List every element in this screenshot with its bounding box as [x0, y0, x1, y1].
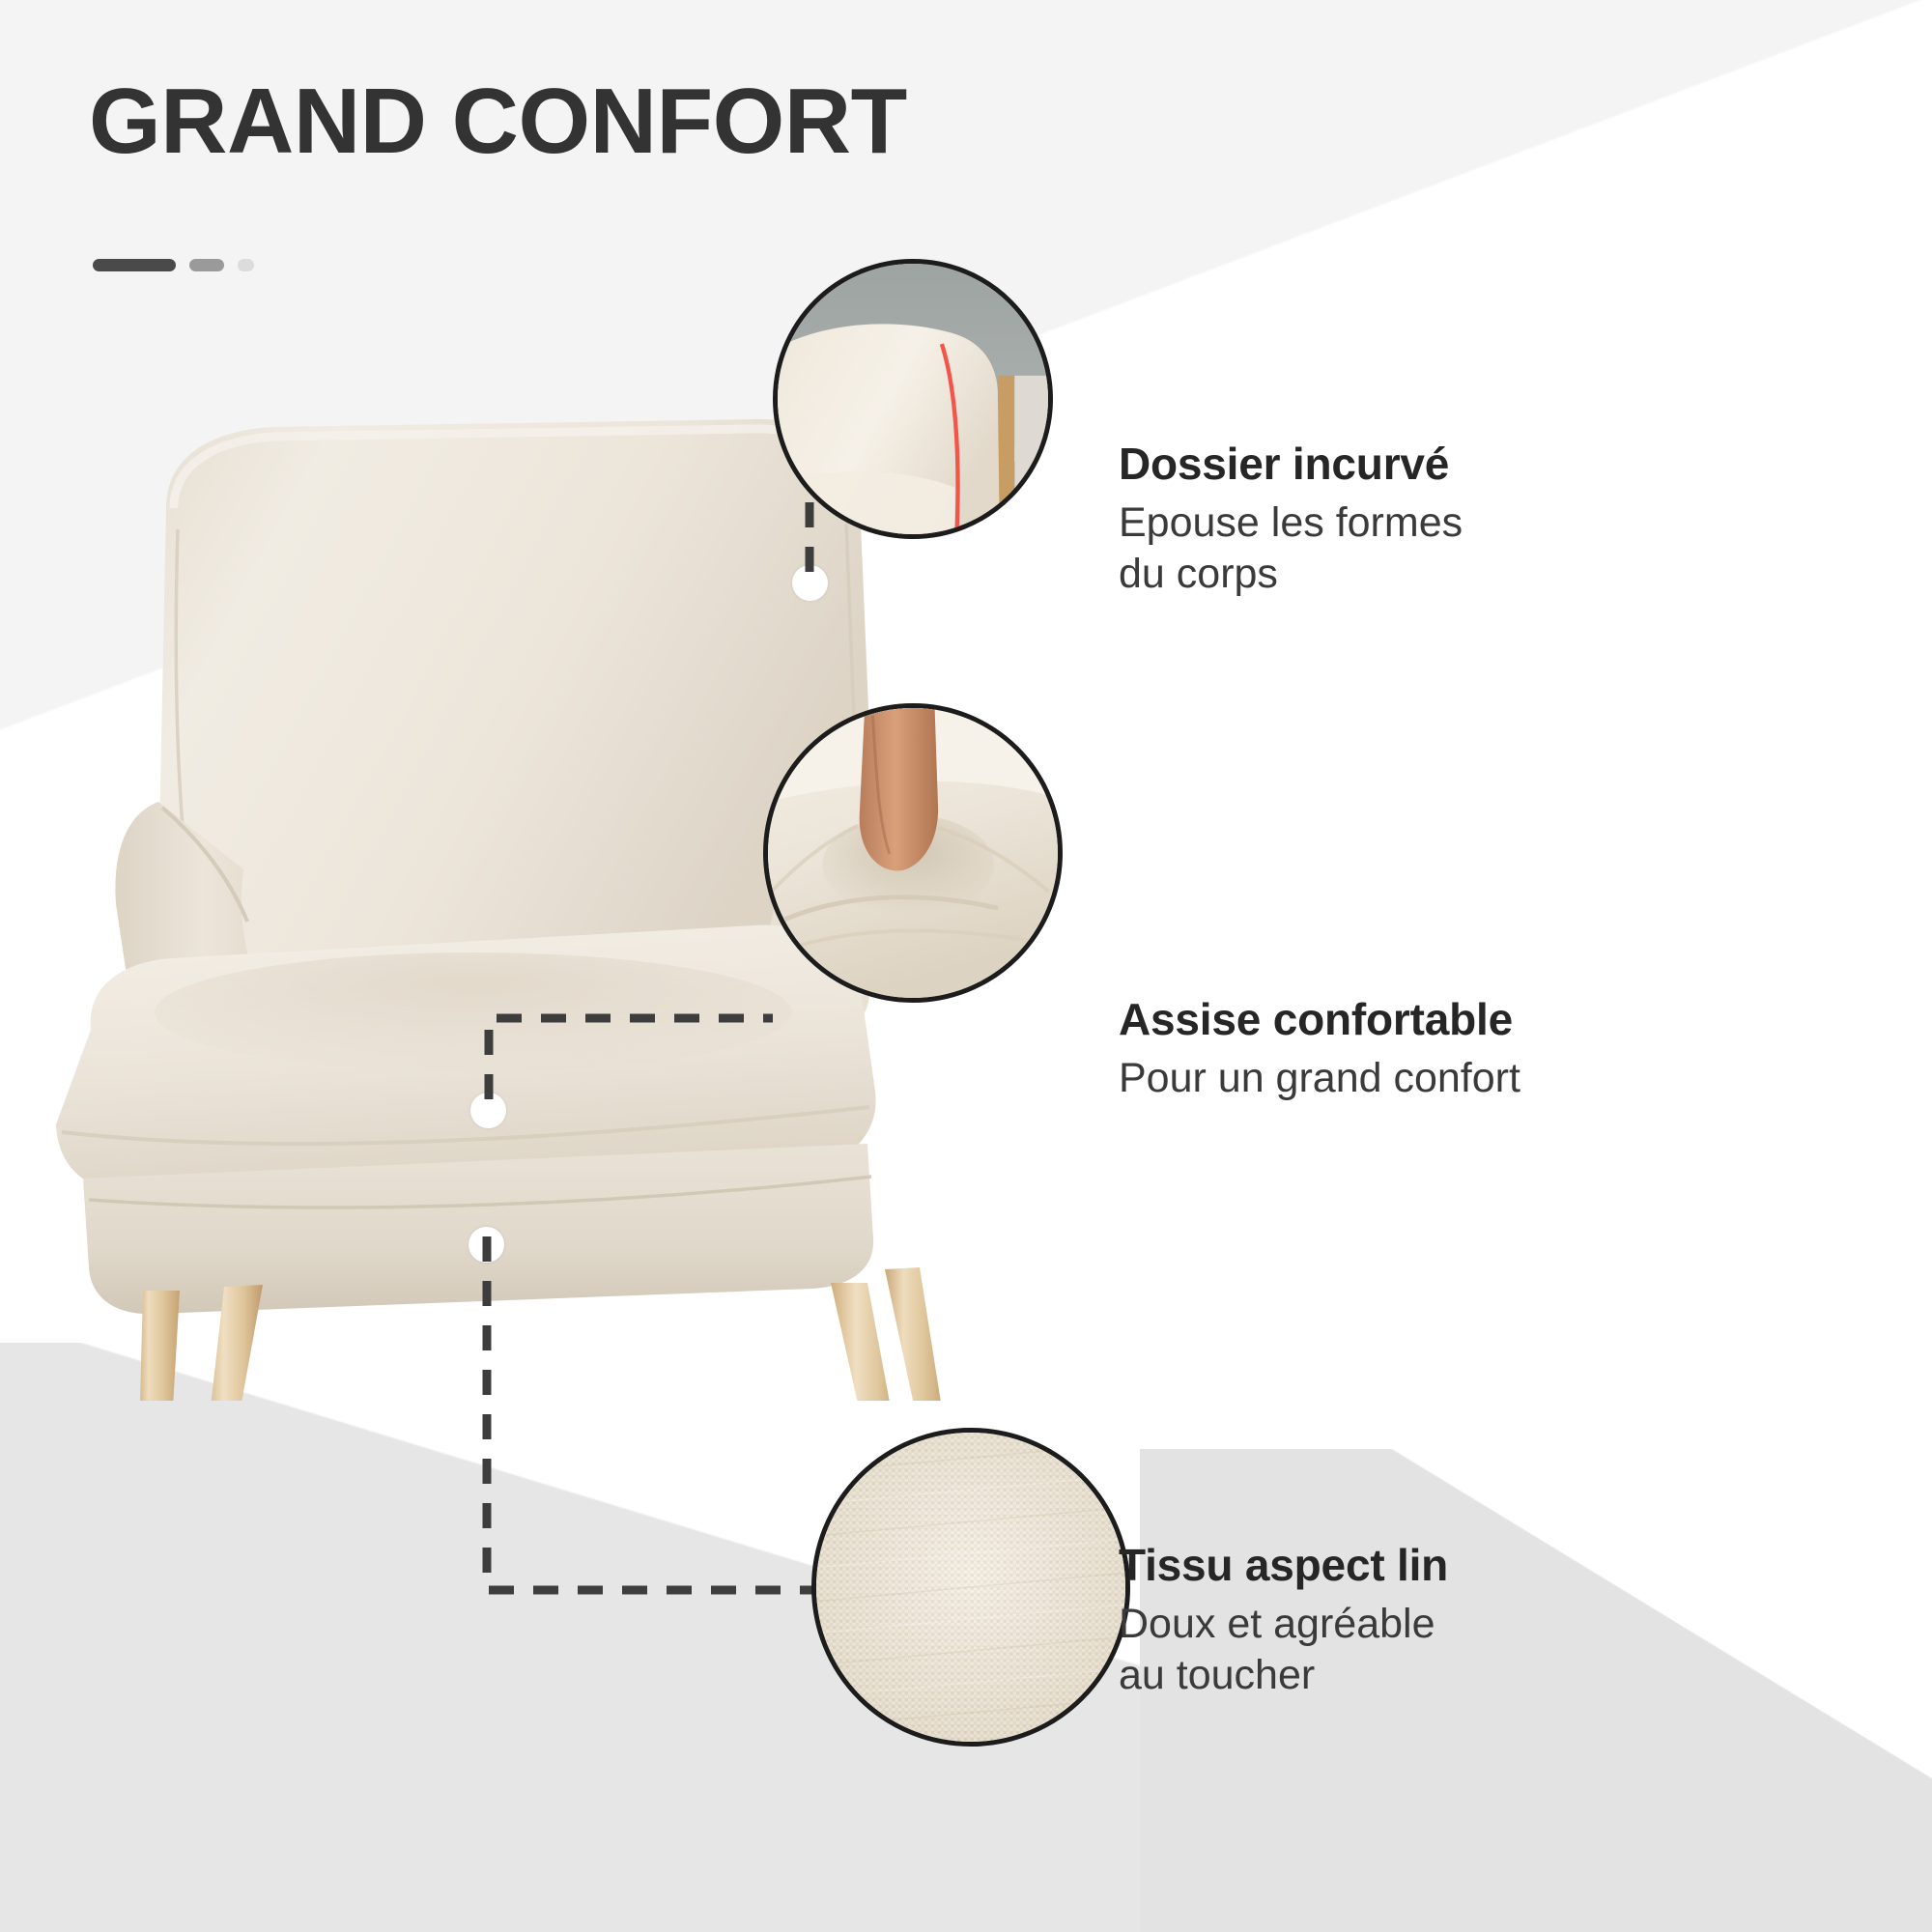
accent-dash-long [93, 259, 176, 271]
accent-dash-short [238, 259, 254, 271]
page-title: GRAND CONFORT [89, 75, 907, 168]
feature-title-tissu: Tissu aspect lin [1119, 1541, 1448, 1591]
feature-desc-tissu-line1: Doux et agréable [1119, 1599, 1448, 1650]
inset-seat-cushion-press [763, 703, 1063, 1003]
feature-title-dossier: Dossier incurvé [1119, 440, 1463, 490]
feature-block-assise: Assise confortable Pour un grand confort [1119, 995, 1520, 1104]
feature-block-tissu: Tissu aspect lin Doux et agréable au tou… [1119, 1541, 1448, 1701]
feature-desc-dossier-line2: du corps [1119, 549, 1463, 600]
chair-leg-back-right [885, 1267, 947, 1401]
feature-block-dossier: Dossier incurvé Epouse les formes du cor… [1119, 440, 1463, 600]
title-accent-dashes [93, 259, 254, 271]
inset2-hand [860, 708, 938, 870]
seat-hollow-shading [155, 952, 792, 1072]
callout-dot-seat[interactable] [470, 1093, 506, 1128]
feature-title-assise: Assise confortable [1119, 995, 1520, 1045]
inset-chair-back-curve [773, 259, 1053, 539]
callout-dot-base-fabric[interactable] [469, 1227, 504, 1263]
accent-dash-mid [189, 259, 224, 271]
feature-desc-tissu-line2: au toucher [1119, 1650, 1448, 1701]
feature-desc-dossier-line1: Epouse les formes [1119, 497, 1463, 549]
callout-dot-backrest[interactable] [792, 565, 828, 601]
infographic-canvas: GRAND CONFORT [0, 0, 1932, 1932]
inset-fabric-closeup [811, 1428, 1130, 1747]
feature-desc-assise-line1: Pour un grand confort [1119, 1053, 1520, 1104]
